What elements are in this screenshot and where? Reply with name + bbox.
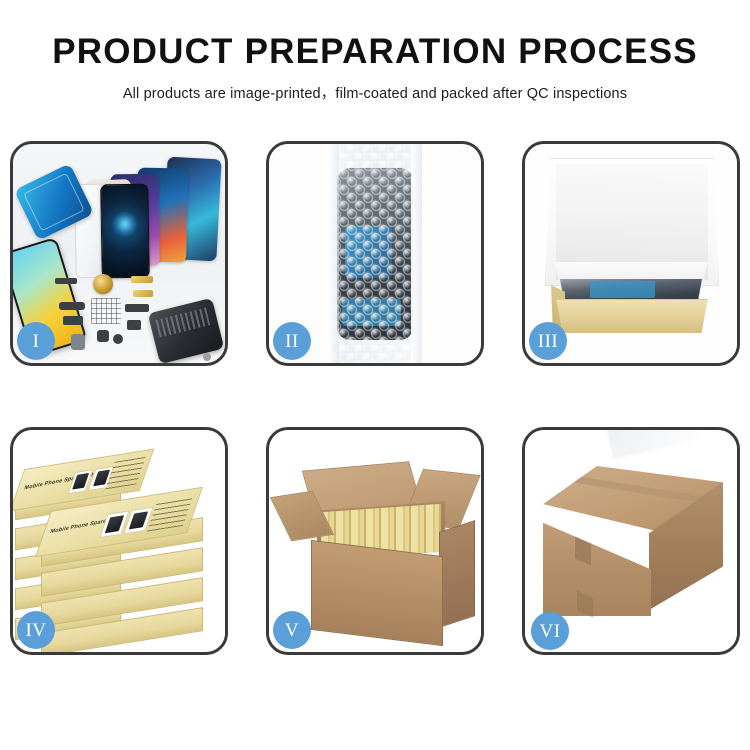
flex-cable-2-icon [133,290,153,297]
small-part-7-icon [71,334,85,350]
small-part-4-icon [125,304,149,312]
step-badge-4: IV [17,611,55,649]
small-part-1-icon [55,278,77,284]
small-part-2-icon [59,302,85,310]
process-steps-grid: I II III [10,141,740,655]
step-badge-3: III [529,322,567,360]
page-title: PRODUCT PREPARATION PROCESS [0,34,750,71]
phone-front-screen-icon [100,184,150,279]
small-part-3-icon [63,316,83,325]
step-panel-5[interactable]: V [266,427,484,655]
carton-front-face-sealed [543,510,651,616]
chip-part-icon [91,298,121,324]
open-carton-icon [277,464,473,642]
step-panel-6[interactable]: VI [522,427,740,655]
flex-cable-1-icon [131,276,153,283]
mailer-front-icon [553,299,711,333]
carton-side-right [439,520,475,628]
lid-spec-lines-front [147,496,193,532]
page-subtitle: All products are image-printed，film-coat… [0,82,750,103]
screw-2-icon [203,353,211,361]
wrap-edge-left-icon [328,144,339,363]
step-panel-4[interactable]: Mobile Phone Spare Parts Mobile Phone Sp… [10,427,228,655]
coil-part-icon [93,274,113,294]
page-header: PRODUCT PREPARATION PROCESS All products… [0,0,750,103]
wrap-edge-right-icon [411,144,422,363]
small-part-6-icon [97,330,109,342]
step-badge-5: V [273,611,311,649]
sealed-carton-icon [543,466,723,626]
small-part-5-icon [127,320,141,330]
step-panel-1[interactable]: I [10,141,228,366]
step-badge-1: I [17,322,55,360]
step-panel-2[interactable]: II [266,141,484,366]
screw-1-icon [113,334,123,344]
lid-spec-lines-back [105,457,145,489]
step-panel-3[interactable]: III [522,141,740,366]
carton-front-face [311,540,443,646]
bubble-highlight-icon [328,144,422,363]
step-badge-6: VI [531,612,569,650]
step-badge-2: II [273,322,311,360]
